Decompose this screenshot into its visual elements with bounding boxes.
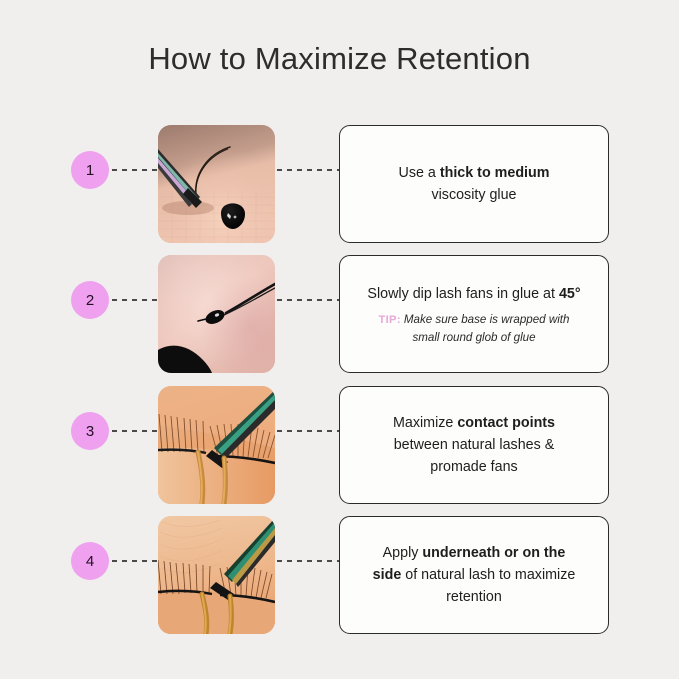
step-text-line: Slowly dip lash fans in glue at 45° [367, 283, 580, 305]
step-text-line: Use a thick to medium [399, 162, 550, 184]
connector-badge-to-photo-3 [112, 430, 157, 432]
step-row-3: 3 [0, 386, 679, 504]
tip-text-line: small round glob of glue [379, 329, 570, 346]
step-text-card-3: Maximize contact points between natural … [339, 386, 609, 504]
connector-badge-to-photo-2 [112, 299, 157, 301]
step-number-label-1: 1 [86, 163, 94, 178]
tip-text-line: Make sure base is wrapped with [404, 313, 570, 326]
tip-first-line: TIP:Make sure base is wrapped with [379, 311, 570, 329]
lash-applied-underneath-photo [158, 516, 275, 634]
step-text-line: retention [446, 586, 502, 608]
step-row-2: 2 [0, 255, 679, 373]
tip-label: TIP: [379, 314, 401, 326]
step-number-badge-4: 4 [71, 542, 109, 580]
connector-badge-to-photo-4 [112, 560, 157, 562]
step-text-card-1: Use a thick to medium viscosity glue [339, 125, 609, 243]
step-text-line: promade fans [430, 456, 517, 478]
connector-badge-to-photo-1 [112, 169, 157, 171]
step-text-line: side of natural lash to maximize [373, 564, 576, 586]
step-number-label-4: 4 [86, 554, 94, 569]
connector-photo-to-card-2 [277, 299, 339, 301]
step-text-line: viscosity glue [431, 184, 516, 206]
step-number-badge-3: 3 [71, 412, 109, 450]
step-number-badge-1: 1 [71, 151, 109, 189]
connector-photo-to-card-4 [277, 560, 339, 562]
step-number-badge-2: 2 [71, 281, 109, 319]
natural-lashes-contact-points-photo [158, 386, 275, 504]
step-text-card-2: Slowly dip lash fans in glue at 45° TIP:… [339, 255, 609, 373]
step-text-line: between natural lashes & [394, 434, 555, 456]
step-text-line: Apply underneath or on the [383, 542, 566, 564]
lash-fan-dipped-in-glue-photo [158, 255, 275, 373]
connector-photo-to-card-3 [277, 430, 339, 432]
infographic-canvas: How to Maximize Retention 1 [0, 0, 679, 679]
step-row-4: 4 [0, 516, 679, 634]
step-text-line: Maximize contact points [393, 412, 555, 434]
step-row-1: 1 [0, 125, 679, 243]
step-text-card-4: Apply underneath or on the side of natur… [339, 516, 609, 634]
step-number-label-3: 3 [86, 424, 94, 439]
connector-photo-to-card-1 [277, 169, 339, 171]
tip-block: TIP:Make sure base is wrapped with small… [379, 311, 570, 346]
page-title: How to Maximize Retention [0, 41, 679, 77]
tweezers-lash-fan-and-glue-drop-photo [158, 125, 275, 243]
step-number-label-2: 2 [86, 293, 94, 308]
